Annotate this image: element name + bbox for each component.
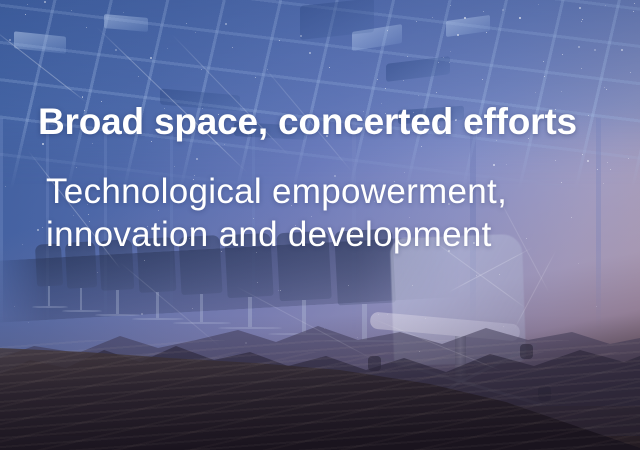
hero-banner: Broad space, concerted efforts Technolog… xyxy=(0,0,640,450)
field-furrow-lines-b xyxy=(0,352,640,450)
hero-subheadline-line-1: Technological empowerment, xyxy=(46,170,604,213)
hero-copy-block: Broad space, concerted efforts Technolog… xyxy=(38,100,604,256)
hero-headline: Broad space, concerted efforts xyxy=(38,100,604,144)
hero-subheadline-line-2: innovation and development xyxy=(46,213,604,256)
hero-subheadline: Technological empowerment, innovation an… xyxy=(46,170,604,256)
